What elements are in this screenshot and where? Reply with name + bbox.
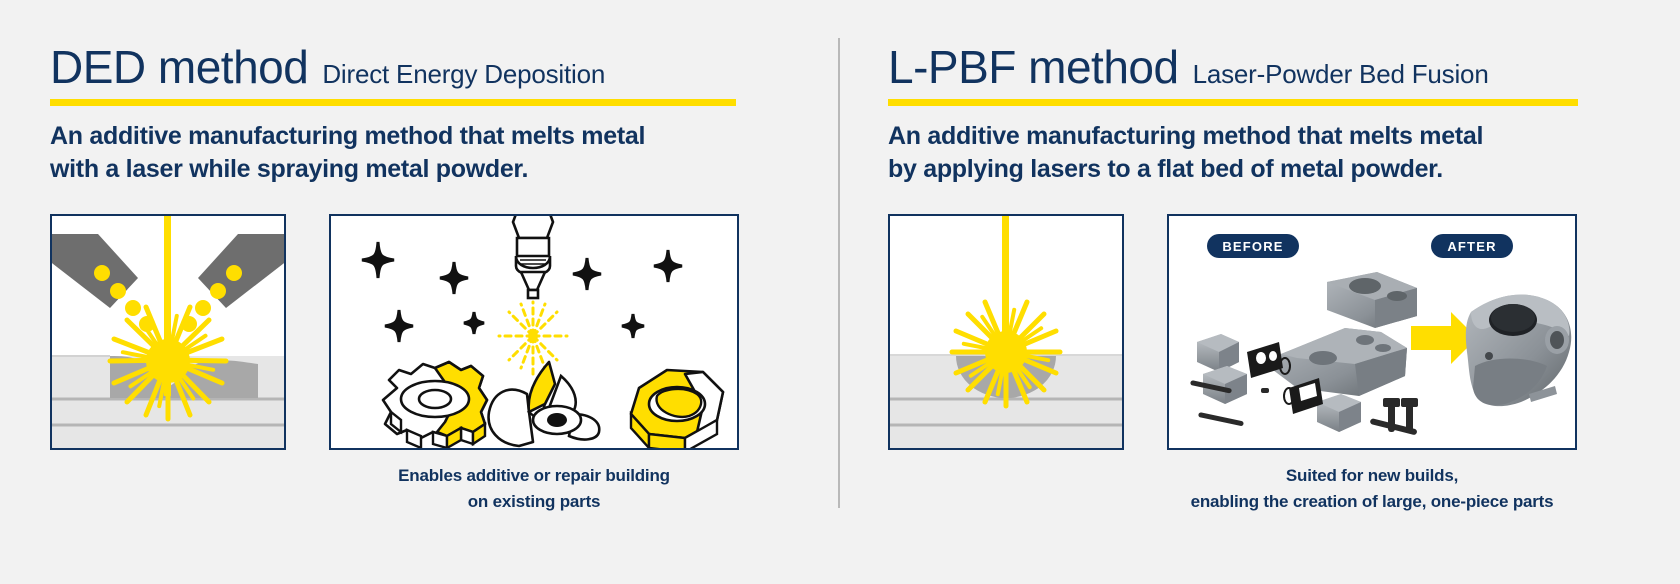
lpbf-description-line-1: An additive manufacturing method that me…	[888, 120, 1598, 153]
panel-ded: DED method Direct Energy Deposition An a…	[0, 0, 838, 584]
badge-after: AFTER	[1431, 234, 1513, 258]
ded-header: DED method Direct Energy Deposition An a…	[50, 44, 750, 186]
ded-title-row: DED method Direct Energy Deposition	[50, 44, 750, 90]
panel-lpbf: L-PBF method Laser-Powder Bed Fusion An …	[838, 0, 1680, 584]
lpbf-caption-line-1: Suited for new builds,	[1162, 463, 1582, 489]
ded-description-line-2: with a laser while spraying metal powder…	[50, 153, 750, 186]
printed-one-piece-part	[1466, 295, 1571, 407]
ded-diagram-figure	[50, 214, 286, 450]
badge-after-label: AFTER	[1447, 239, 1496, 254]
lpbf-figures: BEFORE AFTER	[888, 214, 1582, 514]
infographic-root: DED method Direct Energy Deposition An a…	[0, 0, 1680, 584]
lpbf-diagram-figure	[888, 214, 1124, 450]
ded-accent-rule	[50, 99, 736, 106]
ded-description: An additive manufacturing method that me…	[50, 120, 750, 186]
ded-subtitle: Direct Energy Deposition	[322, 61, 605, 87]
ded-description-line-1: An additive manufacturing method that me…	[50, 120, 750, 153]
lpbf-description: An additive manufacturing method that me…	[888, 120, 1598, 186]
lpbf-title-row: L-PBF method Laser-Powder Bed Fusion	[888, 44, 1598, 90]
ded-illustration-figure: Enables additive or repair building on e…	[324, 214, 744, 514]
lpbf-process-diagram	[888, 214, 1124, 450]
lpbf-beforeafter-illustration: BEFORE AFTER	[1167, 214, 1577, 450]
ded-process-diagram	[50, 214, 286, 450]
ded-title: DED method	[50, 44, 308, 90]
ded-figures: Enables additive or repair building on e…	[50, 214, 744, 514]
lpbf-caption-line-2: enabling the creation of large, one-piec…	[1162, 489, 1582, 515]
lpbf-diagram-svg	[890, 216, 1122, 448]
lpbf-subtitle: Laser-Powder Bed Fusion	[1193, 61, 1489, 87]
melt-burst	[952, 298, 1060, 406]
ded-caption-line-2: on existing parts	[324, 489, 744, 515]
ded-illustration-svg	[331, 216, 737, 448]
lpbf-header: L-PBF method Laser-Powder Bed Fusion An …	[888, 44, 1598, 186]
melt-burst	[110, 303, 226, 419]
lpbf-accent-rule	[888, 99, 1578, 106]
lpbf-caption: Suited for new builds, enabling the crea…	[1162, 463, 1582, 514]
lpbf-description-line-2: by applying lasers to a flat bed of meta…	[888, 153, 1598, 186]
ded-application-illustration	[329, 214, 739, 450]
ded-diagram-svg	[52, 216, 284, 448]
ded-caption-line-1: Enables additive or repair building	[324, 463, 744, 489]
ded-caption: Enables additive or repair building on e…	[324, 463, 744, 514]
badge-before: BEFORE	[1207, 234, 1299, 258]
badge-before-label: BEFORE	[1222, 239, 1283, 254]
lpbf-title: L-PBF method	[888, 44, 1179, 90]
lpbf-illustration-svg: BEFORE AFTER	[1169, 216, 1575, 448]
lpbf-illustration-figure: BEFORE AFTER	[1162, 214, 1582, 514]
